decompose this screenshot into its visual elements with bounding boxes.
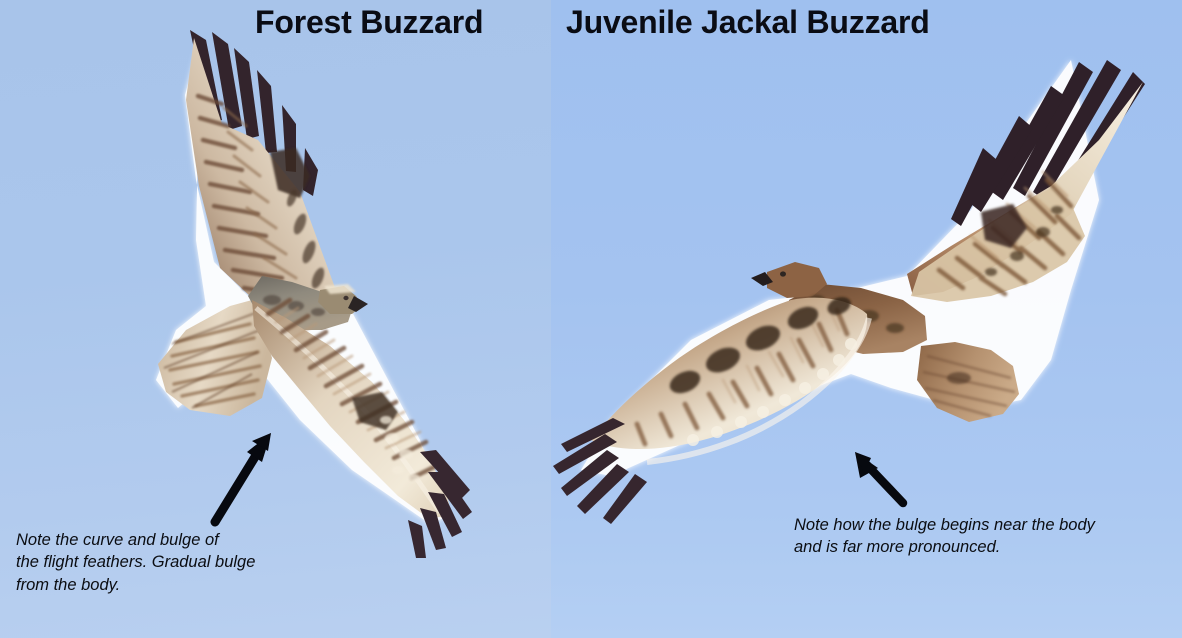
bulge-pointer-arrow [855,452,903,503]
page-title-forest-buzzard: Forest Buzzard [255,4,483,41]
page-title-juvenile-jackal-buzzard: Juvenile Jackal Buzzard [566,4,930,41]
comparison-figure: Forest Buzzard Note the curve and bulge … [0,0,1182,638]
bulge-pointer-arrow [215,433,271,522]
panel-forest-buzzard: Forest Buzzard Note the curve and bulge … [0,0,551,638]
panel-juvenile-jackal-buzzard: Juvenile Jackal Buzzard Note how the bul… [551,0,1182,638]
caption-juvenile-jackal-buzzard: Note how the bulge begins near the body … [794,514,1095,559]
caption-forest-buzzard: Note the curve and bulge of the flight f… [16,529,255,596]
